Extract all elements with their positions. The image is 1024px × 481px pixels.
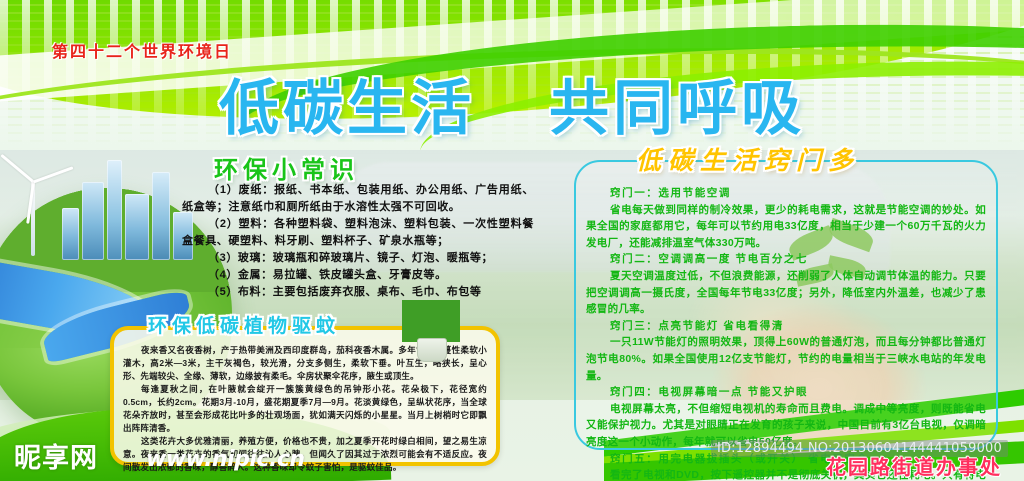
right-section-title: 低碳生活窍门多 <box>636 141 860 177</box>
left-section-body: （1）废纸：报纸、书本纸、包装用纸、办公用纸、广告用纸、纸盒等；注意纸巾和厕所纸… <box>182 182 534 301</box>
main-title-left: 低碳生活 <box>219 60 475 147</box>
watermark-logo: 昵享网 <box>14 436 98 475</box>
potted-plant-icon <box>398 300 464 362</box>
mosquito-plant-title: 环保低碳植物驱蚊 <box>148 311 340 338</box>
poster-canvas: 第四十二个世界环境日 低碳生活共同呼吸 环保小常识 （1）废纸：报纸、书本纸、包… <box>0 0 1024 481</box>
organization-name: 花园路街道办事处 <box>826 451 1002 480</box>
event-tag: 第四十二个世界环境日 <box>52 38 232 62</box>
main-title: 低碳生活共同呼吸 <box>0 60 1024 147</box>
tip-heading: 窍门一：选用节能空调 <box>586 185 986 202</box>
left-section-title: 环保小常识 <box>214 150 359 185</box>
watermark-url: www.nipic.cn <box>146 447 305 472</box>
tip-body: 一只11W节能灯的照明效果，顶得上60W的普通灯泡，而且每分钟都比普通灯泡节电8… <box>586 334 986 384</box>
tip-heading: 窍门三：点亮节能灯 省电看得清 <box>586 318 986 335</box>
left-item: （3）玻璃：玻璃瓶和碎玻璃片、镜子、灯泡、暖瓶等； <box>182 250 534 267</box>
left-item: （2）塑料：各种塑料袋、塑料泡沫、塑料包装、一次性塑料餐盒餐具、硬塑料、料牙刷、… <box>182 216 534 250</box>
left-item: （4）金属：易拉罐、铁皮罐头盒、牙膏皮等。 <box>182 267 534 284</box>
tip-body: 夏天空调温度过低，不但浪费能源，还削弱了人体自动调节体温的能力。只要把空调调高一… <box>586 268 986 318</box>
mosquito-paragraph: 每逢夏秋之间，在叶腋就会绽开一簇簇黄绿色的吊钟形小花。花朵极下，花径宽约0.5c… <box>123 383 487 435</box>
tip-heading: 窍门二：空调调高一度 节电百分之七 <box>586 251 986 268</box>
city-skyline-icon <box>58 150 198 260</box>
tip-body: 省电每天做到同样的制冷效果，更少的耗电需求，这就是节能空调的妙处。如果全国的家庭… <box>586 202 986 252</box>
tip-heading: 窍门四：电视屏幕暗一点 节能又护眼 <box>586 384 986 401</box>
wind-turbine-icon <box>6 156 60 256</box>
left-item: （5）布料：主要包括废弃衣服、桌布、毛巾、布包等 <box>182 284 534 301</box>
main-title-right: 共同呼吸 <box>549 60 805 147</box>
left-item: （1）废纸：报纸、书本纸、包装用纸、办公用纸、广告用纸、纸盒等；注意纸巾和厕所纸… <box>182 182 534 216</box>
right-section-body: 窍门一：选用节能空调 省电每天做到同样的制冷效果，更少的耗电需求，这就是节能空调… <box>586 185 986 481</box>
